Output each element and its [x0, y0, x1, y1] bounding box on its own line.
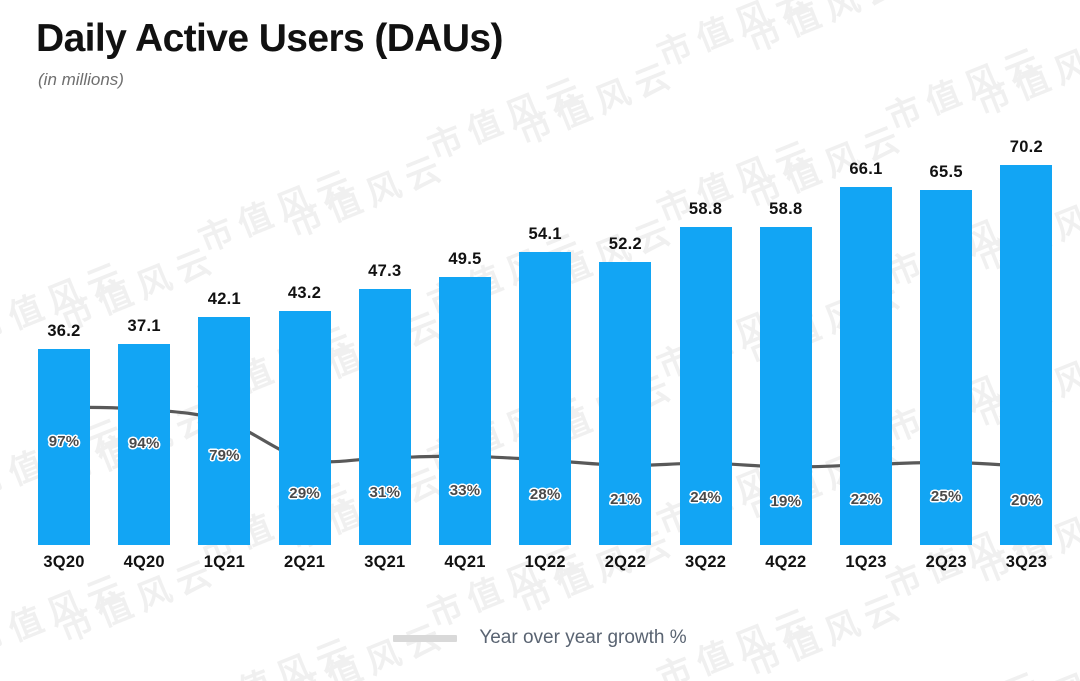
chart-header: Daily Active Users (DAUs) (in millions): [36, 16, 503, 90]
bar-value-label: 66.1: [826, 160, 906, 179]
x-axis-label-1q21: 1Q21: [184, 553, 264, 572]
growth-pct-label: 97%: [38, 433, 90, 450]
growth-pct-label: 25%: [920, 488, 972, 505]
bar-value-label: 65.5: [906, 163, 986, 182]
x-axis-label-3q21: 3Q21: [345, 553, 425, 572]
growth-pct-label: 22%: [840, 491, 892, 508]
bar-value-label: 52.2: [585, 235, 665, 254]
bar-value-label: 47.3: [345, 262, 425, 281]
x-axis-label-1q22: 1Q22: [505, 553, 585, 572]
bar-3q21[interactable]: [359, 289, 411, 545]
bar-value-label: 58.8: [666, 200, 746, 219]
x-axis-label-2q21: 2Q21: [265, 553, 345, 572]
page-title: Daily Active Users (DAUs): [36, 16, 503, 62]
x-axis-label-2q23: 2Q23: [906, 553, 986, 572]
legend-line-swatch: [393, 635, 457, 642]
bar-3q23[interactable]: [1000, 165, 1052, 545]
growth-pct-label: 20%: [1000, 492, 1052, 509]
bar-value-label: 42.1: [184, 290, 264, 309]
x-axis-label-2q22: 2Q22: [585, 553, 665, 572]
growth-pct-label: 24%: [680, 489, 732, 506]
bar-2q21[interactable]: [279, 311, 331, 545]
growth-pct-label: 28%: [519, 486, 571, 503]
bar-1q21[interactable]: [198, 317, 250, 545]
growth-pct-label: 31%: [359, 484, 411, 501]
legend-item-growth: Year over year growth %: [479, 627, 686, 649]
growth-pct-label: 19%: [760, 493, 812, 510]
x-axis-label-3q22: 3Q22: [666, 553, 746, 572]
bar-value-label: 37.1: [104, 317, 184, 336]
bar-value-label: 54.1: [505, 225, 585, 244]
chart-legend: Year over year growth %: [0, 627, 1080, 649]
x-axis-label-3q23: 3Q23: [986, 553, 1066, 572]
x-axis-label-4q22: 4Q22: [746, 553, 826, 572]
chart-page: 市值风云 市值风云 市值风云 市值风云 市值风云 市值风云 市值风云 市值风云 …: [0, 0, 1080, 681]
growth-pct-label: 29%: [279, 485, 331, 502]
x-axis-label-4q20: 4Q20: [104, 553, 184, 572]
growth-pct-label: 79%: [198, 447, 250, 464]
bar-value-label: 49.5: [425, 250, 505, 269]
x-axis-label-4q21: 4Q21: [425, 553, 505, 572]
bar-value-label: 58.8: [746, 200, 826, 219]
plot-area: 36.297%3Q2037.194%4Q2042.179%1Q2143.229%…: [0, 0, 1080, 681]
x-axis-label-1q23: 1Q23: [826, 553, 906, 572]
bar-value-label: 70.2: [986, 138, 1066, 157]
bar-value-label: 36.2: [24, 322, 104, 341]
bar-4q21[interactable]: [439, 277, 491, 545]
bar-value-label: 43.2: [265, 284, 345, 303]
growth-pct-label: 21%: [599, 491, 651, 508]
chart-subtitle: (in millions): [38, 70, 503, 90]
x-axis-label-3q20: 3Q20: [24, 553, 104, 572]
growth-pct-label: 94%: [118, 435, 170, 452]
growth-pct-label: 33%: [439, 482, 491, 499]
